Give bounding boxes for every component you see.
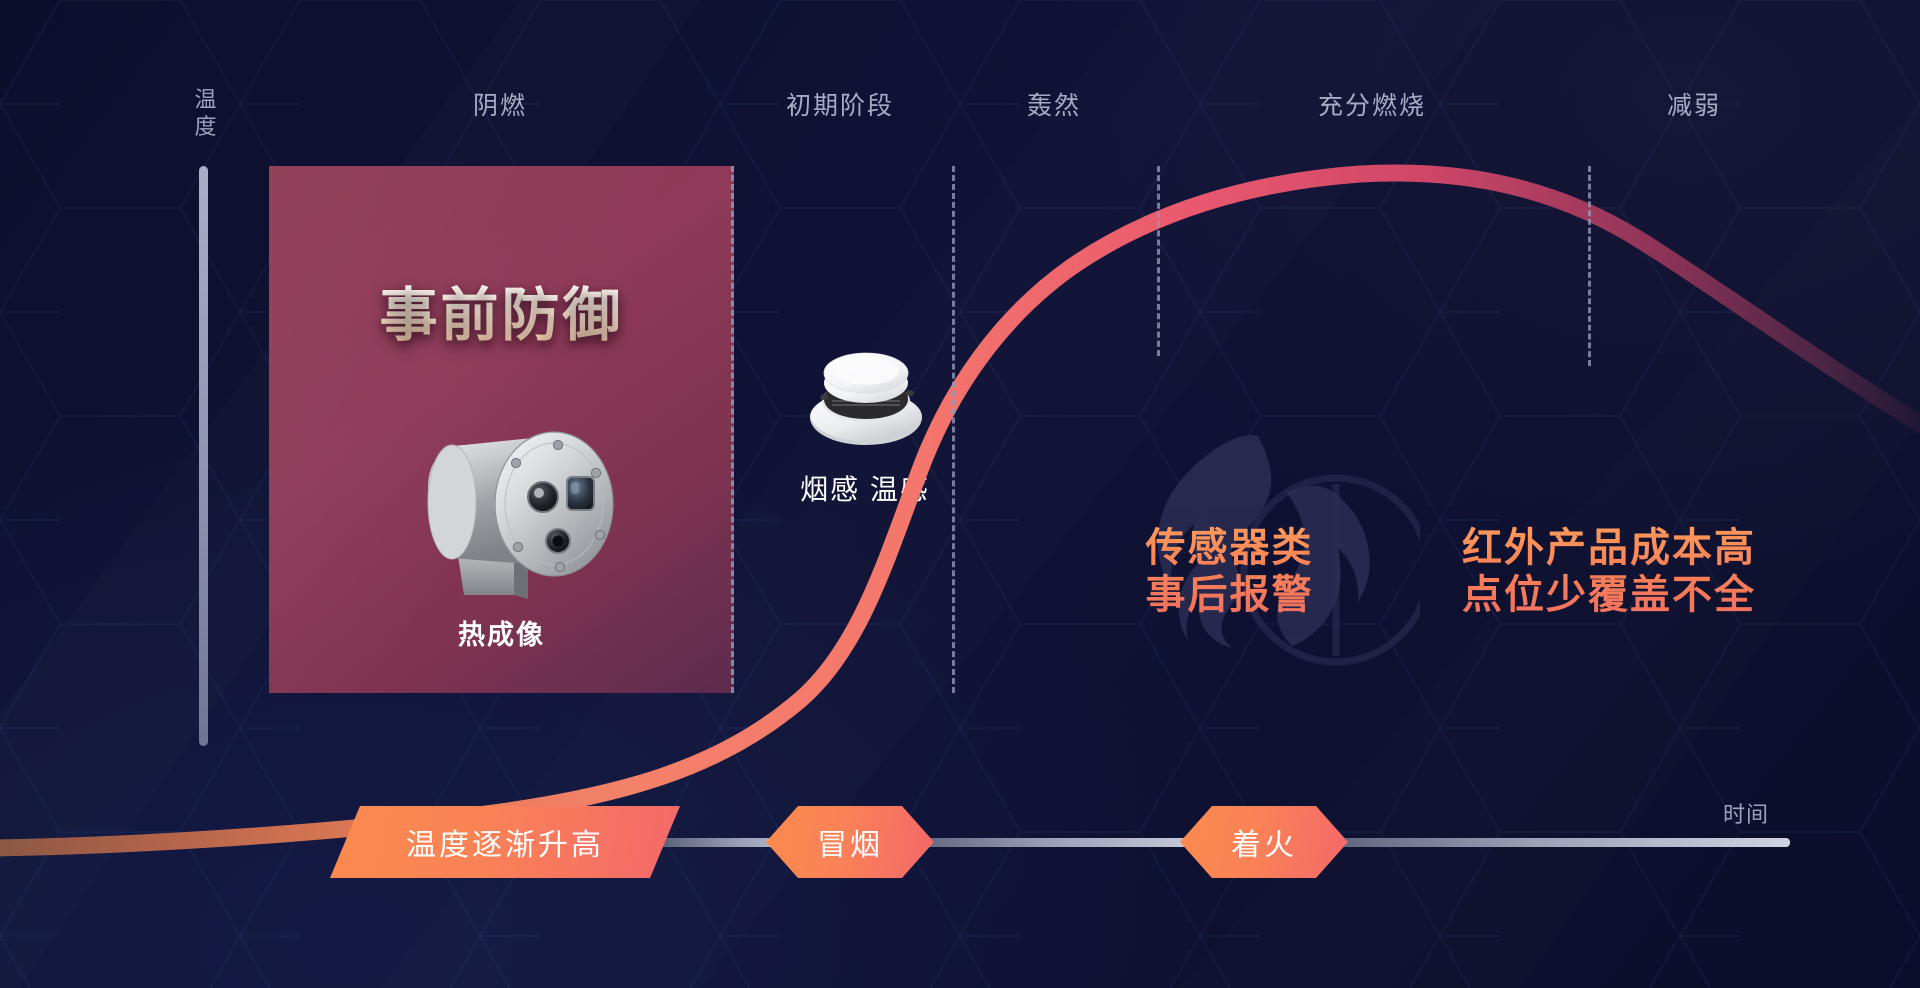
x-axis-label: 时间	[1723, 797, 1769, 829]
timeline-badge-temp-rise[interactable]: 温度逐渐升高	[330, 806, 680, 878]
timeline-badge-smoke[interactable]: 冒烟	[766, 806, 934, 878]
stage-divider-full-combustion	[1157, 166, 1160, 356]
warning-infrared-text: 红外产品成本高 点位少覆盖不全	[1424, 525, 1794, 619]
timeline-connector-2	[905, 838, 1225, 847]
infographic-canvas: 温度 阴燃 初期阶段 轰然 充分燃烧 减弱 事前防御	[0, 0, 1920, 988]
timeline-connector-3	[1320, 838, 1790, 847]
warning-sensor-text: 传感器类 事后报警	[1122, 525, 1337, 619]
stage-divider-decay	[1588, 166, 1591, 366]
stage-divider-flashover	[952, 166, 955, 693]
timeline-badge-fire[interactable]: 着火	[1180, 806, 1348, 878]
